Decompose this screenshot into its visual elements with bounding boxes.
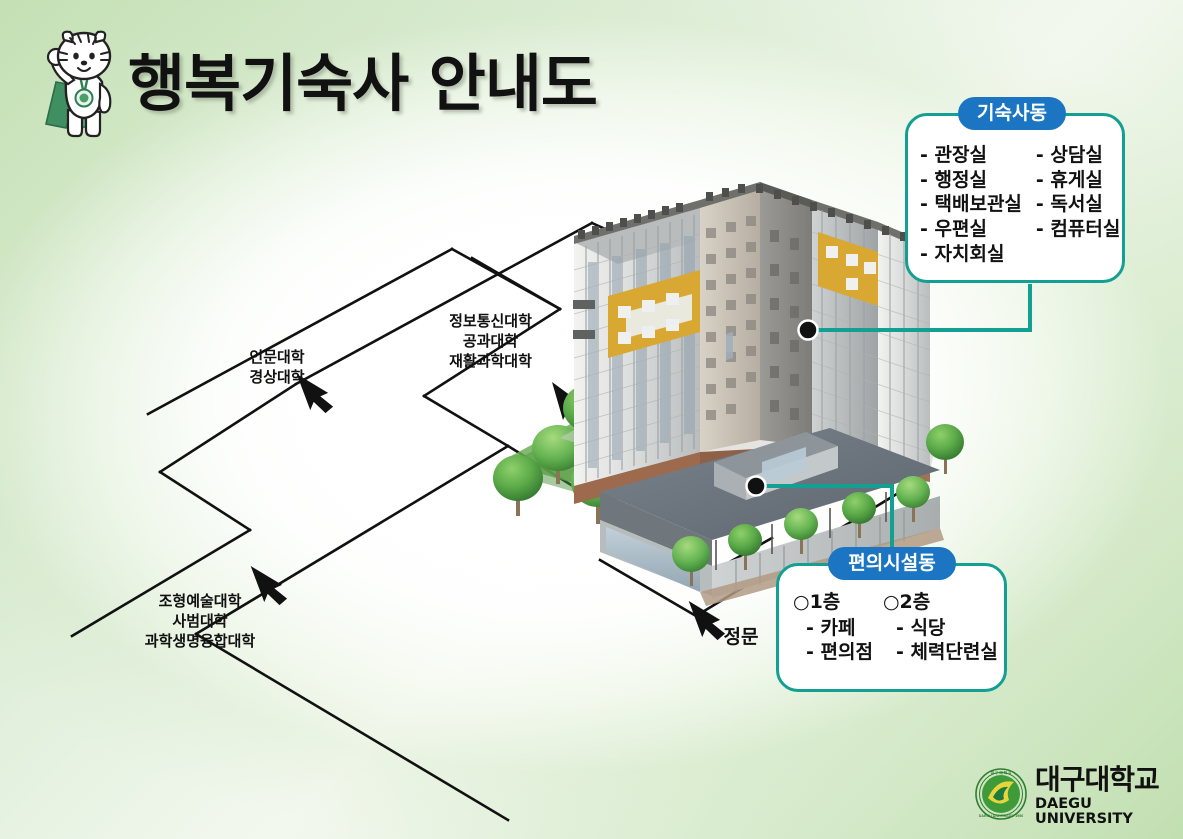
callout-dormitory-title: 기숙사동 [958, 97, 1066, 130]
list-item: - 관장실 [920, 143, 1022, 168]
label-humanities-colleges: 인문대학 경상대학 [222, 348, 332, 388]
list-item: - 우편실 [920, 217, 1022, 242]
list-item: - 컴퓨터실 [1036, 217, 1120, 242]
label-line: 인문대학 [222, 348, 332, 368]
callout-dormitory: - 관장실 - 행정실 - 택배보관실 - 우편실 - 자치회실 - 상담실 -… [905, 113, 1125, 283]
marker-dot-convenience [747, 477, 766, 496]
list-item: - 편의점 [793, 640, 873, 665]
list-item: - 독서실 [1036, 192, 1120, 217]
floor-header: ○1층 [793, 590, 873, 615]
daegu-university-emblem-icon: 대 구 대 학 교 DAEGU UNIVERSITY 1956 [975, 768, 1027, 820]
label-line: 경상대학 [222, 368, 332, 388]
svg-text:DAEGU UNIVERSITY 1956: DAEGU UNIVERSITY 1956 [979, 814, 1023, 818]
list-item: - 카페 [793, 616, 873, 641]
list-item: - 식당 [883, 616, 998, 641]
dormitory-facility-column-1: - 관장실 - 행정실 - 택배보관실 - 우편실 - 자치회실 [920, 143, 1022, 266]
label-line: 정보통신대학 [433, 312, 548, 332]
floor-header: ○2층 [883, 590, 998, 615]
list-item: - 상담실 [1036, 143, 1120, 168]
list-item: - 택배보관실 [920, 192, 1022, 217]
callout-convenience-title: 편의시설동 [828, 547, 956, 580]
logo-english-name: DAEGU UNIVERSITY [1035, 797, 1165, 826]
white-tiger-mascot-icon [26, 24, 134, 142]
list-item: - 체력단련실 [883, 640, 998, 665]
dormitory-guide-map: 행복기숙사 안내도 인문대학 경상대학 정보통신대학 공과대학 재활과학대학 조… [0, 0, 1183, 839]
svg-text:대 구 대 학 교: 대 구 대 학 교 [991, 770, 1012, 775]
university-logo: 대 구 대 학 교 DAEGU UNIVERSITY 1956 대구대학교 DA… [975, 766, 1165, 824]
list-item: - 자치회실 [920, 242, 1022, 267]
label-ict-colleges: 정보통신대학 공과대학 재활과학대학 [433, 312, 548, 371]
logo-wordmark: 대구대학교 DAEGU UNIVERSITY [1035, 766, 1165, 826]
list-item: - 행정실 [920, 168, 1022, 193]
convenience-floor-1: ○1층 - 카페 - 편의점 [793, 590, 873, 665]
logo-korean-name: 대구대학교 [1035, 766, 1165, 794]
dormitory-facility-column-2: - 상담실 - 휴게실 - 독서실 - 컴퓨터실 [1036, 143, 1120, 266]
label-main-gate: 정문 [712, 625, 770, 650]
dormitory-facility-columns: - 관장실 - 행정실 - 택배보관실 - 우편실 - 자치회실 - 상담실 -… [920, 143, 1120, 266]
label-line: 과학생명융합대학 [100, 632, 300, 652]
label-line: 사범대학 [100, 612, 300, 632]
label-line: 조형예술대학 [100, 592, 300, 612]
label-line: 재활과학대학 [433, 352, 548, 372]
label-line: 공과대학 [433, 332, 548, 352]
callout-convenience: ○1층 - 카페 - 편의점 ○2층 - 식당 - 체력단련실 [776, 563, 1007, 692]
convenience-floor-columns: ○1층 - 카페 - 편의점 ○2층 - 식당 - 체력단련실 [793, 590, 998, 665]
page-title: 행복기숙사 안내도 [128, 33, 597, 123]
list-item: - 휴게실 [1036, 168, 1120, 193]
marker-dot-dorm [799, 321, 818, 340]
label-arts-colleges: 조형예술대학 사범대학 과학생명융합대학 [100, 592, 300, 651]
convenience-floor-2: ○2층 - 식당 - 체력단련실 [883, 590, 998, 665]
